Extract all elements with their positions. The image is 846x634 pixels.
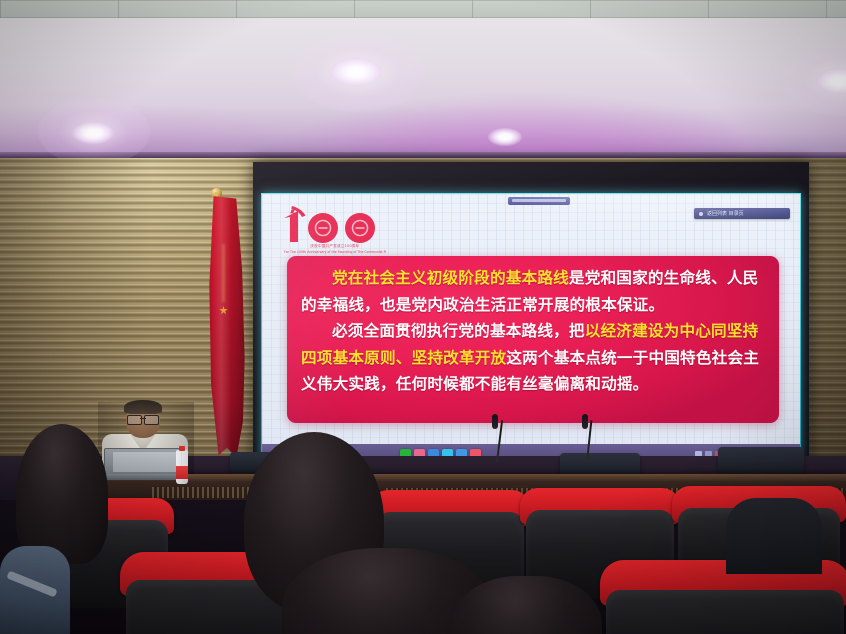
microphone-head <box>582 414 588 429</box>
cpc-100-anniversary-logo: 庆祝中国共产党成立100周年 For The 100th Anniversary… <box>278 204 388 262</box>
laptop-lid <box>104 448 182 477</box>
slide-top-tab[interactable] <box>508 197 570 205</box>
logo-svg <box>278 204 388 244</box>
chip-dot-icon <box>699 212 703 216</box>
desk-top-edge <box>80 474 846 481</box>
logo-caption-cn: 庆祝中国共产党成立100周年 <box>284 244 386 249</box>
slide-text-panel: 党在社会主义初级阶段的基本路线是党和国家的生命线、人民的幸福线，也是党内政治生活… <box>287 256 779 423</box>
water-bottle <box>176 446 188 484</box>
presentation-screen[interactable]: 庆祝中国共产党成立100周年 For The 100th Anniversary… <box>262 194 800 464</box>
audience-member <box>452 576 602 634</box>
ceiling-downlight <box>488 128 522 146</box>
audience-member <box>16 424 108 564</box>
slide-canvas: 庆祝中国共产党成立100周年 For The 100th Anniversary… <box>262 194 800 444</box>
microphone-head <box>492 414 498 429</box>
slide-paragraph-1: 党在社会主义初级阶段的基本路线是党和国家的生命线、人民的幸福线，也是党内政治生活… <box>287 256 779 318</box>
laptop-screen <box>113 452 181 472</box>
logo-caption-en: For The 100th Anniversary of the Foundin… <box>284 250 386 254</box>
laptop-base <box>100 474 184 480</box>
ceiling-downlight <box>72 122 114 144</box>
person-jacket <box>0 546 70 634</box>
person-jacket <box>726 498 822 574</box>
audience-member <box>726 498 822 574</box>
ceiling-downlight <box>330 58 382 86</box>
slide-nav-chip[interactable]: 返回列表 目录页 <box>694 208 790 219</box>
flag-fold-highlight <box>222 244 225 302</box>
ceiling-soffit <box>0 18 846 158</box>
person-hair <box>16 424 108 564</box>
slide-nav-chip-label: 返回列表 目录页 <box>707 210 744 217</box>
bottle-label <box>176 466 188 479</box>
logo-mark <box>278 204 388 244</box>
seat-back <box>606 590 844 634</box>
lecture-hall-photo: 庆祝中国共产党成立100周年 For The 100th Anniversary… <box>0 0 846 634</box>
slide-p1-run-1: 党在社会主义初级阶段的基本路线 <box>332 269 569 287</box>
bottle-cap <box>179 446 185 451</box>
audience-member <box>0 546 70 634</box>
slide-p2-run-1: 必须全面贯彻执行党的基本路线，把 <box>332 322 585 340</box>
laptop <box>100 448 184 480</box>
person-hair <box>452 576 602 634</box>
slide-paragraph-2: 必须全面贯彻执行党的基本路线，把以经济建设为中心同坚持四项基本原则、坚持改革开放… <box>287 318 779 398</box>
